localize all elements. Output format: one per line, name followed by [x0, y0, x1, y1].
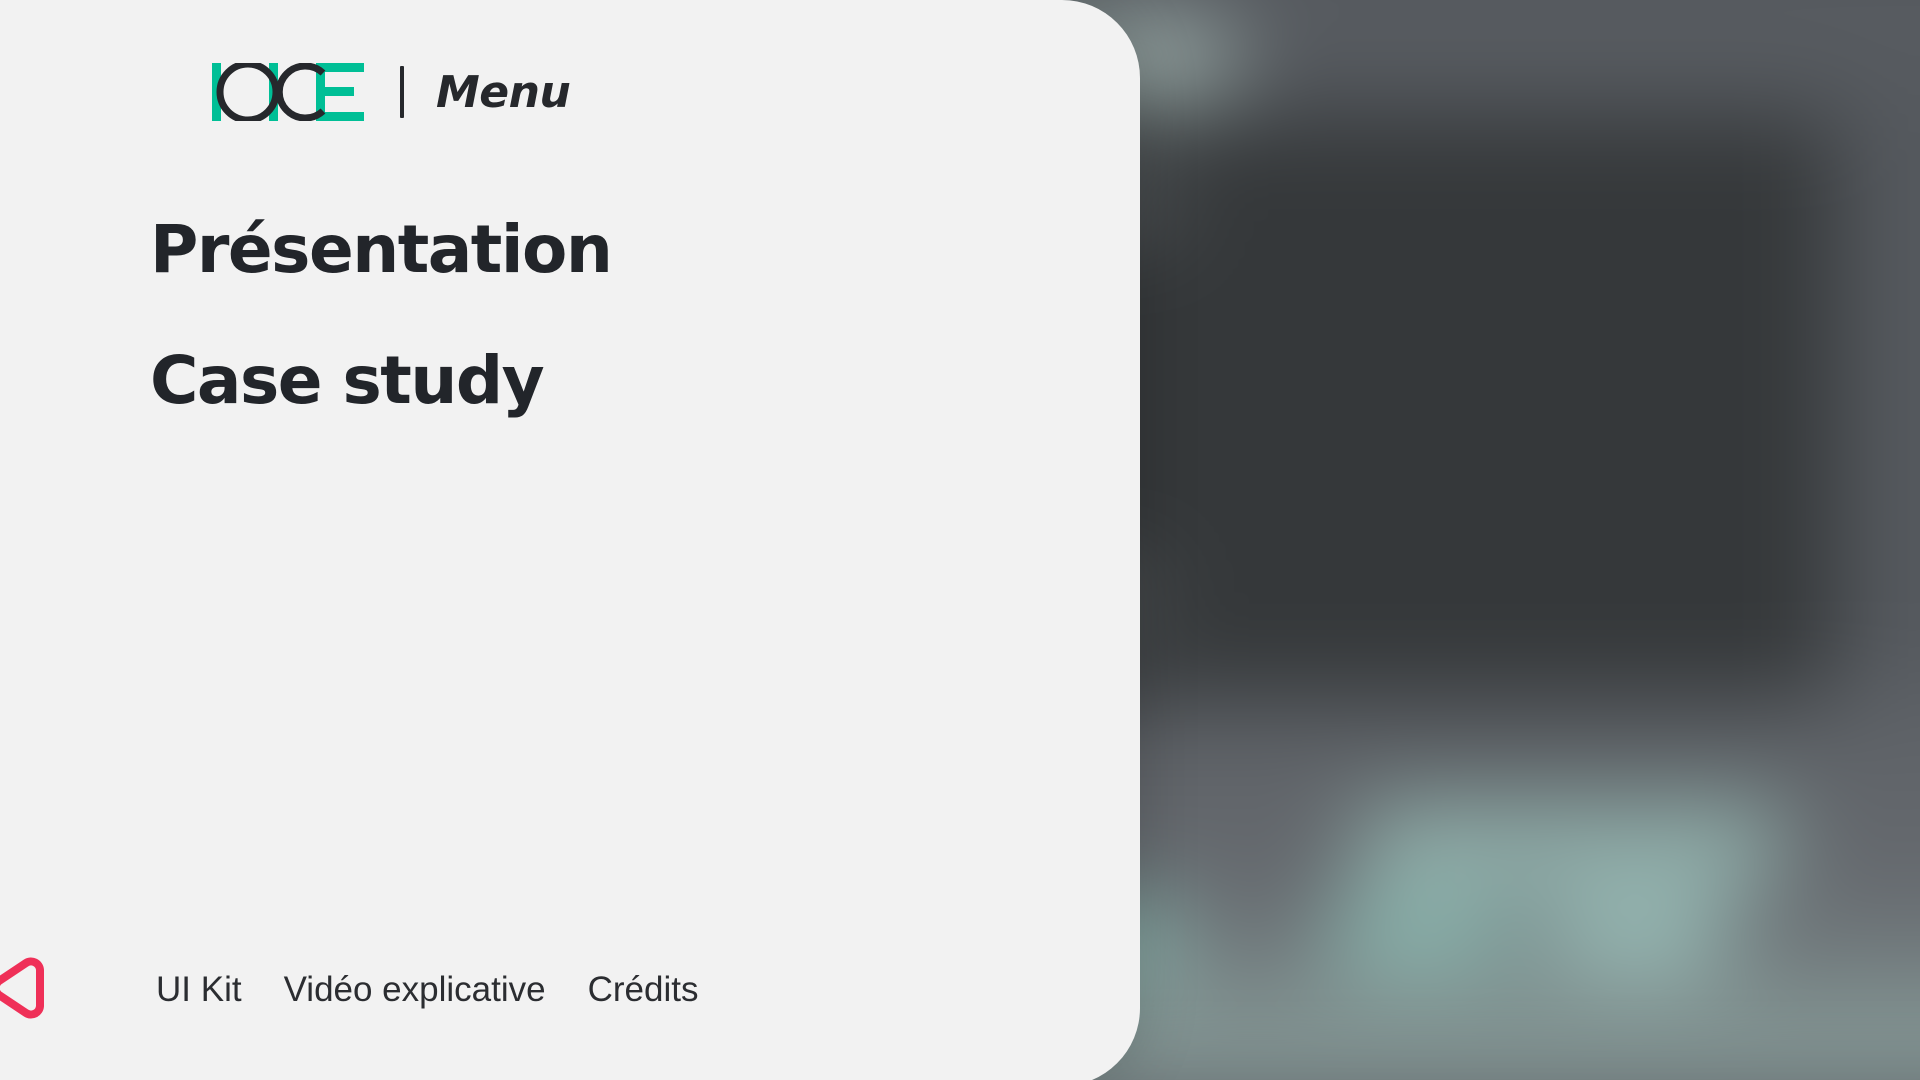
nav-item-presentation[interactable]: Présentation	[150, 215, 611, 284]
footer-link-ui-kit[interactable]: UI Kit	[156, 970, 242, 1010]
back-button[interactable]	[0, 952, 60, 1028]
play-triangle-left-icon	[0, 951, 59, 1030]
background-block-c	[1545, 900, 1725, 970]
footer-link-credits[interactable]: Crédits	[588, 970, 699, 1010]
nav-item-case-study[interactable]: Case study	[150, 346, 611, 415]
header-divider	[400, 66, 404, 118]
footer-links: UI Kit Vidéo explicative Crédits	[156, 970, 698, 1010]
footer-link-video-explicative[interactable]: Vidéo explicative	[284, 970, 546, 1010]
background-block-b	[1330, 900, 1510, 970]
page-title: Menu	[436, 67, 570, 118]
menu-footer: UI Kit Vidéo explicative Crédits	[0, 952, 1080, 1028]
main-navigation: Présentation Case study	[150, 215, 611, 416]
menu-panel: Menu Présentation Case study UI Kit Vidé…	[0, 0, 1140, 1080]
menu-header: Menu	[212, 63, 570, 121]
olce-logo-icon[interactable]	[212, 63, 364, 121]
screen: Menu Présentation Case study UI Kit Vidé…	[0, 0, 1920, 1080]
background-block-a	[1360, 810, 1780, 880]
